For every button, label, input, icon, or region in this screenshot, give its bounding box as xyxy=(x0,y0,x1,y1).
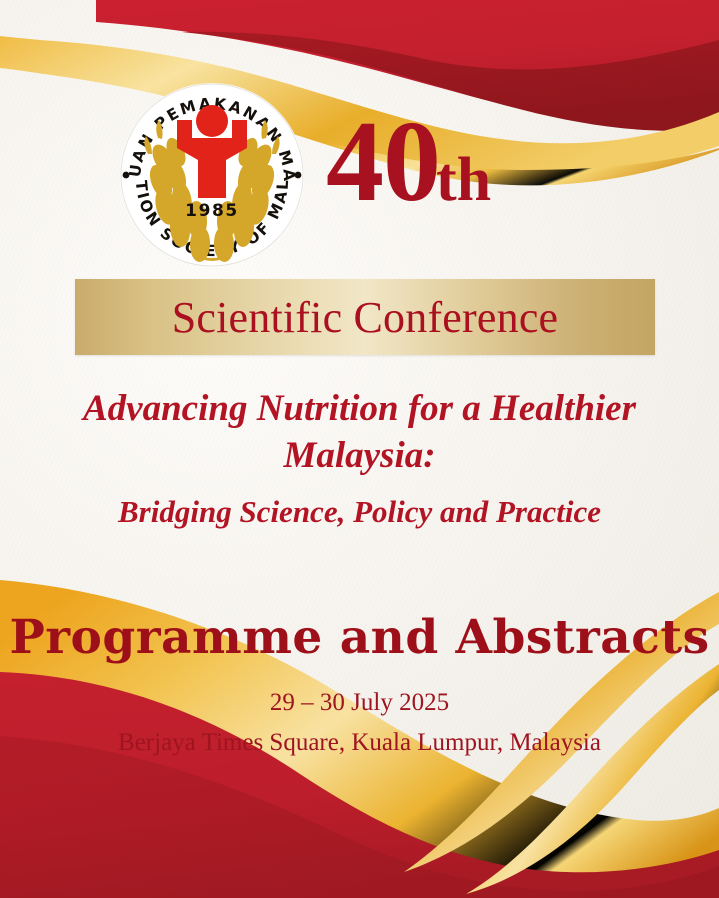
event-venue: Berjaya Times Square, Kuala Lumpur, Mala… xyxy=(0,726,719,760)
society-logo: PERSATUAN PEMAKANAN MALAYSIA NUTRITION S… xyxy=(104,76,320,274)
theme-line-2: Malaysia: xyxy=(20,432,699,479)
anniversary-number: 40 xyxy=(326,98,440,226)
event-details: 29 – 30 July 2025 Berjaya Times Square, … xyxy=(0,686,719,760)
page-title: Programme and Abstracts xyxy=(0,610,719,665)
theme-main-line: Advancing Nutrition for a Healthier Mala… xyxy=(20,385,699,480)
scientific-conference-banner: Scientific Conference xyxy=(75,279,655,355)
society-logo-graphic: PERSATUAN PEMAKANAN MALAYSIA NUTRITION S… xyxy=(104,76,320,274)
logo-founded-year: 1985 xyxy=(185,201,239,221)
event-date: 29 – 30 July 2025 xyxy=(0,686,719,720)
anniversary-number-block: 40th xyxy=(326,104,616,234)
conference-theme: Advancing Nutrition for a Healthier Mala… xyxy=(20,385,699,532)
cover-content: PERSATUAN PEMAKANAN MALAYSIA NUTRITION S… xyxy=(0,0,719,898)
banner-title: Scientific Conference xyxy=(172,292,559,343)
theme-line-1: Advancing Nutrition for a Healthier xyxy=(20,385,699,432)
conference-cover-page: PERSATUAN PEMAKANAN MALAYSIA NUTRITION S… xyxy=(0,0,719,898)
anniversary-suffix: th xyxy=(436,146,491,214)
logo-dot-right xyxy=(295,172,302,179)
logo-dot-left xyxy=(123,172,130,179)
theme-subtitle: Bridging Science, Policy and Practice xyxy=(20,492,699,532)
